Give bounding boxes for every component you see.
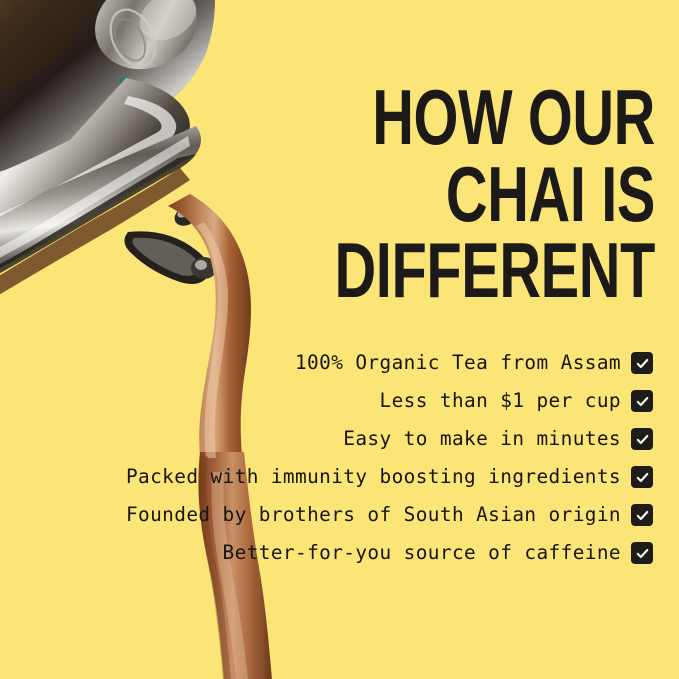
check-icon [631, 352, 653, 374]
teapot-body-shadow [0, 0, 112, 120]
headline-line-3: DIFFERENT [307, 232, 655, 308]
benefit-row: Easy to make in minutes [343, 428, 653, 450]
teapot-spout-underside [0, 154, 196, 306]
benefit-row: Founded by brothers of South Asian origi… [126, 504, 653, 526]
check-icon [631, 428, 653, 450]
teapot-neck [0, 78, 190, 262]
headline-line-2: CHAI IS [307, 156, 655, 232]
benefit-text: Packed with immunity boosting ingredient… [126, 467, 621, 486]
benefit-text: 100% Organic Tea from Assam [295, 353, 621, 372]
chai-promo-poster: HOW OUR CHAI IS DIFFERENT 100% Organic T… [0, 0, 679, 679]
teapot-spout-stain [0, 168, 190, 330]
teapot-body [0, 0, 215, 186]
benefit-text: Better-for-you source of caffeine [223, 543, 621, 562]
benefit-row: Packed with immunity boosting ingredient… [126, 466, 653, 488]
teapot-teal-speck [120, 76, 128, 88]
headline: HOW OUR CHAI IS DIFFERENT [185, 79, 655, 308]
benefit-text: Easy to make in minutes [343, 429, 621, 448]
check-icon [631, 390, 653, 412]
teapot-lid [81, 0, 210, 84]
teapot-neck-highlight [0, 96, 176, 250]
benefit-text: Founded by brothers of South Asian origi… [126, 505, 621, 524]
teapot-lid-ring-2 [109, 15, 152, 66]
benefit-row: Better-for-you source of caffeine [223, 542, 653, 564]
benefit-row: Less than $1 per cup [380, 390, 653, 412]
benefit-row: 100% Organic Tea from Assam [295, 352, 653, 374]
teapot-lid-ring-1 [102, 2, 164, 73]
headline-line-1: HOW OUR [307, 79, 655, 155]
check-icon [631, 542, 653, 564]
teapot-spout-highlight [0, 136, 190, 288]
benefits-list: 100% Organic Tea from AssamLess than $1 … [13, 352, 653, 564]
check-icon [631, 504, 653, 526]
benefit-text: Less than $1 per cup [380, 391, 621, 410]
teapot-lid-highlight [131, 0, 205, 50]
teapot-spout [0, 126, 201, 300]
check-icon [631, 466, 653, 488]
